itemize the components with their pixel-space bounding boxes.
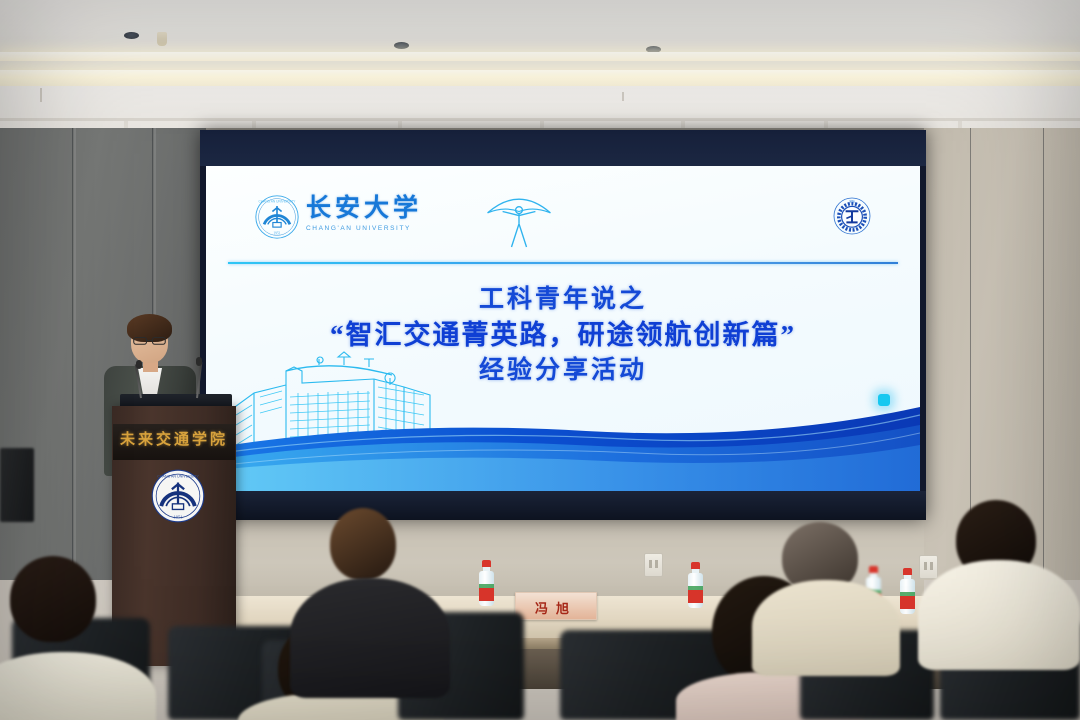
svg-text:CHANG'AN UNIVERSITY: CHANG'AN UNIVERSITY — [157, 475, 199, 479]
slide-wave-decoration — [206, 405, 920, 491]
recessed-spotlight — [124, 32, 139, 39]
water-bottle — [688, 562, 703, 608]
microphone-icon — [136, 360, 142, 369]
university-name-en: CHANG'AN UNIVERSITY — [306, 225, 456, 232]
ceiling-wire — [40, 88, 42, 102]
slide-logo-row: CHANG'AN UNIVERSITY 1951 长安大学 CHANG'AN U… — [206, 188, 920, 254]
audience-head — [10, 556, 96, 642]
floor-speaker-equipment — [0, 448, 34, 522]
svg-text:CHANG'AN UNIVERSITY: CHANG'AN UNIVERSITY — [259, 199, 297, 203]
audience-head — [330, 508, 396, 580]
microphone-icon — [196, 357, 202, 366]
svg-text:学院: 学院 — [849, 199, 855, 203]
svg-text:1951: 1951 — [174, 514, 183, 519]
audience-shoulders — [752, 580, 900, 676]
circular-gear-emblem: 学院 — [832, 196, 872, 236]
recessed-spotlight — [394, 42, 409, 49]
university-name-cn: 长安大学 — [306, 196, 456, 222]
name-placard-text: 冯旭 — [516, 598, 596, 617]
podium-nameplate-text: 未来交通学院 — [113, 428, 235, 449]
water-bottle — [900, 568, 915, 614]
presentation-room-photo: CHANG'AN UNIVERSITY 1951 长安大学 CHANG'AN U… — [0, 0, 1080, 720]
power-outlet-icon — [644, 553, 663, 577]
slide-title-line-1: 工科青年说之 — [206, 284, 920, 316]
power-outlet-icon — [919, 555, 938, 579]
svg-text:1951: 1951 — [273, 231, 281, 235]
ceiling-light-cove — [0, 70, 1080, 86]
university-wordmark: 长安大学 CHANG'AN UNIVERSITY — [306, 196, 456, 240]
fire-sprinkler-icon — [157, 32, 167, 46]
slide-divider-line — [228, 262, 898, 264]
presentation-slide: CHANG'AN UNIVERSITY 1951 长安大学 CHANG'AN U… — [206, 166, 920, 491]
umbrella-figure-mark — [478, 188, 560, 250]
screen-bezel-bottom — [200, 491, 926, 520]
ceiling-mid-band — [0, 61, 1080, 70]
screen-bezel-top — [200, 130, 926, 166]
ceiling-light-cove-thin — [0, 52, 1080, 61]
podium-university-emblem: CHANG'AN UNIVERSITY 1951 — [150, 468, 206, 524]
water-bottle — [479, 560, 494, 606]
changan-university-emblem: CHANG'AN UNIVERSITY 1951 — [254, 194, 300, 240]
name-placard: 冯旭 — [515, 592, 597, 620]
ceiling-wire — [622, 92, 624, 101]
audience-shoulders — [290, 578, 450, 698]
projection-screen: CHANG'AN UNIVERSITY 1951 长安大学 CHANG'AN U… — [200, 130, 926, 520]
eyeglasses-icon — [133, 336, 166, 345]
audience-shoulders — [918, 560, 1080, 670]
